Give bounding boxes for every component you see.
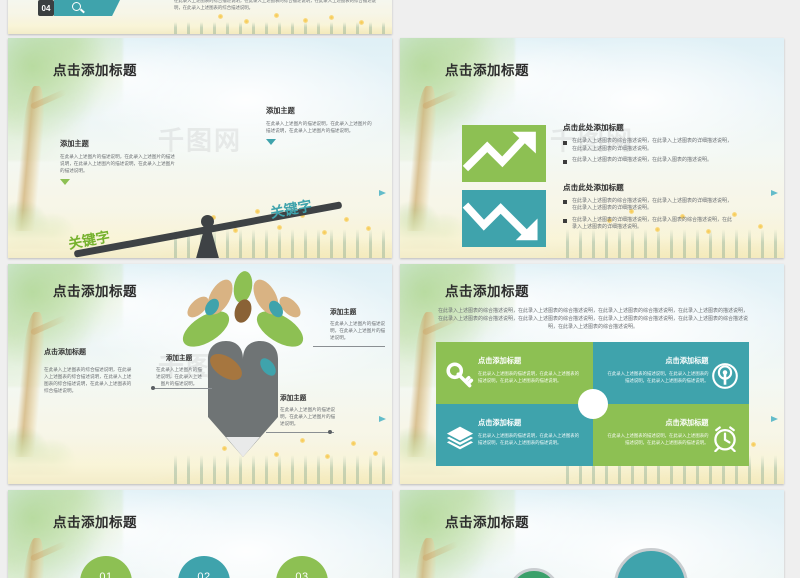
section-ribbon <box>54 0 120 16</box>
left-heading: 点击添加标题 <box>44 347 134 357</box>
quadrant-grid: 点击添加标题 在此录入上述图表的描述说明，在此录入上述图表的描述说明，在此录入上… <box>436 342 749 466</box>
arrow-down-trend-icon <box>462 190 546 247</box>
section-number-badge: 04 <box>38 0 54 16</box>
leader-line <box>266 432 334 433</box>
callout-heading: 添加主题 <box>60 139 178 149</box>
circle-number: 01 <box>99 571 112 578</box>
bullet-item: 在此录入上述图表的详细描述说明，在此录入图表的综合描述说明，在此录入上述图表的详… <box>563 217 735 232</box>
slide6-title: 点击添加标题 <box>53 511 137 531</box>
leader-dot <box>328 430 332 434</box>
slide1-body-text: 在此录入上述图表的综合描述说明，在此录入上述图表的综合描述说明，在此录入上述图表… <box>174 0 379 12</box>
slide-thumbnail-6[interactable]: 点击添加标题 01 关键字 02 关键字 03 关键字 <box>8 490 392 578</box>
slide4-note-2: 添加主题 在此录入上述图片的描述说明，在此录入上述图片的描述说明。 <box>330 306 386 341</box>
note-heading: 添加主题 <box>154 352 204 362</box>
note-heading: 添加主题 <box>280 392 336 402</box>
alarm-clock-icon <box>711 424 739 452</box>
slide7-title: 点击添加标题 <box>445 511 529 531</box>
bullet-square-icon <box>563 141 567 145</box>
slide5-intro-text: 在此录入上述图表的综合描述说明，在此录入上述图表的综合描述说明，在此录入上述图表… <box>438 307 748 331</box>
note-heading: 添加主题 <box>330 306 386 316</box>
left-body: 在此录入上述图表的综合描述说明，在此录入上述图表的综合描述说明，在此录入上述图表… <box>44 366 134 394</box>
callout-heading: 添加主题 <box>266 106 374 116</box>
bird-icon <box>379 190 386 196</box>
bird-icon <box>771 190 778 196</box>
quadrant-heading: 点击添加标题 <box>605 418 709 428</box>
bullet-square-icon <box>563 219 567 223</box>
slide3-title: 点击添加标题 <box>445 59 529 79</box>
bullet-square-icon <box>563 200 567 204</box>
slide-background <box>400 490 784 578</box>
triangle-marker-icon <box>60 179 70 185</box>
circle-number: 02 <box>197 571 210 578</box>
quadrant-body: 在此录入上述图表的描述说明，在此录入上述图表的描述说明，在此录入上述图表的描述说… <box>605 371 709 385</box>
slide-thumbnail-2[interactable]: 千图网 点击添加标题 添加主题 在此录入上述图片的描述说明，在此录入上述图片的描… <box>8 38 392 258</box>
slide-thumbnail-1[interactable]: 04 在此录入上述图表的综合描述说明，在此录入上述图表的综合描述说明，在此录入上… <box>8 0 392 34</box>
slide5-title: 点击添加标题 <box>445 280 529 300</box>
slide3-block-1: 点击此处添加标题 在此录入上述图表的综合描述说明，在此录入上述图表的详细描述说明… <box>563 122 735 165</box>
block-heading: 点击此处添加标题 <box>563 122 735 133</box>
slide4-note-3: 添加主题 在此录入上述图片的描述说明，在此录入上述图片的描述说明。 <box>280 392 336 427</box>
bullet-square-icon <box>563 160 567 164</box>
quadrant-text: 点击添加标题 在此录入上述图表的描述说明，在此录入上述图表的描述说明，在此录入上… <box>605 356 709 385</box>
quadrant-3[interactable]: 点击添加标题 在此录入上述图表的描述说明，在此录入上述图表的描述说明，在此录入上… <box>436 404 593 466</box>
template-preview-page: 04 在此录入上述图表的综合描述说明，在此录入上述图表的综合描述说明，在此录入上… <box>0 0 800 578</box>
slide4-left-text: 点击添加标题 在此录入上述图表的综合描述说明，在此录入上述图表的综合描述说明，在… <box>44 347 134 394</box>
bullet-item: 在此录入上述图表的详细描述说明，在此录入图表的描述说明。 <box>563 157 735 165</box>
slide-thumbnail-3[interactable]: 千图网 点击添加标题 点击此处添加标题 在此录入上述图表的综合描述说明，在此录入… <box>400 38 784 258</box>
bullet-item: 在此录入上述图表的综合描述说明，在此录入上述图表的详细描述说明，在此录入上述图表… <box>563 198 735 213</box>
signal-icon <box>711 362 739 390</box>
slide-thumbnail-5[interactable]: 千图网 点击添加标题 在此录入上述图表的综合描述说明，在此录入上述图表的综合描述… <box>400 264 784 484</box>
quadrant-text: 点击添加标题 在此录入上述图表的描述说明，在此录入上述图表的描述说明，在此录入上… <box>478 418 582 447</box>
note-body: 在此录入上述图片的描述说明，在此录入上述图片的描述说明。 <box>154 366 204 387</box>
callout-body: 在此录入上述图片的描述说明，在此录入上述图片的描述说明，在此录入上述图片的描述说… <box>266 120 374 134</box>
triangle-marker-icon <box>266 139 276 145</box>
quadrant-body: 在此录入上述图表的描述说明，在此录入上述图表的描述说明，在此录入上述图表的描述说… <box>605 433 709 447</box>
slide4-title: 点击添加标题 <box>53 280 137 300</box>
leader-line <box>313 346 385 347</box>
layers-icon <box>446 424 474 452</box>
callout-body: 在此录入上述图片的描述说明，在此录入上述图片的描述说明，在此录入上述图片的描述说… <box>60 153 178 174</box>
arrow-up-trend-icon <box>462 125 546 182</box>
slide2-left-callout: 添加主题 在此录入上述图片的描述说明，在此录入上述图片的描述说明，在此录入上述图… <box>60 139 178 185</box>
quadrant-heading: 点击添加标题 <box>478 356 582 366</box>
quadrant-heading: 点击添加标题 <box>605 356 709 366</box>
quadrant-2[interactable]: 点击添加标题 在此录入上述图表的描述说明，在此录入上述图表的描述说明，在此录入上… <box>593 342 750 404</box>
bullet-text: 在此录入上述图表的详细描述说明，在此录入图表的综合描述说明，在此录入上述图表的详… <box>572 217 735 232</box>
slide3-block-2: 点击此处添加标题 在此录入上述图表的综合描述说明，在此录入上述图表的详细描述说明… <box>563 182 735 232</box>
quadrant-heading: 点击添加标题 <box>478 418 582 428</box>
slide3-text-column: 点击此处添加标题 在此录入上述图表的综合描述说明，在此录入上述图表的详细描述说明… <box>563 122 735 245</box>
seesaw-pivot <box>201 215 214 228</box>
quadrant-text: 点击添加标题 在此录入上述图表的描述说明，在此录入上述图表的描述说明，在此录入上… <box>605 418 709 447</box>
leader-dot <box>151 386 155 390</box>
bullet-text: 在此录入上述图表的综合描述说明，在此录入上述图表的详细描述说明，在此录入上述图表… <box>572 198 735 213</box>
slide4-note-1: 添加主题 在此录入上述图片的描述说明，在此录入上述图片的描述说明。 <box>154 352 204 387</box>
note-body: 在此录入上述图片的描述说明，在此录入上述图片的描述说明。 <box>330 320 386 341</box>
block-heading: 点击此处添加标题 <box>563 182 735 193</box>
quadrant-1[interactable]: 点击添加标题 在此录入上述图表的描述说明，在此录入上述图表的描述说明，在此录入上… <box>436 342 593 404</box>
slide-thumbnail-7[interactable]: 点击添加标题 关键词 关键词 <box>400 490 784 578</box>
bullet-text: 在此录入上述图表的详细描述说明，在此录入图表的描述说明。 <box>572 157 712 165</box>
slide2-right-callout: 添加主题 在此录入上述图片的描述说明，在此录入上述图片的描述说明，在此录入上述图… <box>266 106 374 145</box>
quadrant-body: 在此录入上述图表的描述说明，在此录入上述图表的描述说明，在此录入上述图表的描述说… <box>478 433 582 447</box>
slide2-title: 点击添加标题 <box>53 59 137 79</box>
search-icon <box>72 2 81 11</box>
quadrant-body: 在此录入上述图表的描述说明，在此录入上述图表的描述说明，在此录入上述图表的描述说… <box>478 371 582 385</box>
leader-line <box>154 388 212 389</box>
quadrant-text: 点击添加标题 在此录入上述图表的描述说明，在此录入上述图表的描述说明，在此录入上… <box>478 356 582 385</box>
quadrant-4[interactable]: 点击添加标题 在此录入上述图表的描述说明，在此录入上述图表的描述说明，在此录入上… <box>593 404 750 466</box>
bird-icon <box>379 416 386 422</box>
center-circle <box>578 389 608 419</box>
circle-number: 03 <box>295 571 308 578</box>
bullet-text: 在此录入上述图表的综合描述说明，在此录入上述图表的详细描述说明，在此录入上述图表… <box>572 138 735 153</box>
slide-thumbnail-4[interactable]: 千图网 点击添加标题 点击添加标题 在此录入上述图表的综合描述说明，在此录入上述… <box>8 264 392 484</box>
dandelion-cluster <box>200 12 384 30</box>
bullet-item: 在此录入上述图表的综合描述说明，在此录入上述图表的详细描述说明，在此录入上述图表… <box>563 138 735 153</box>
note-body: 在此录入上述图片的描述说明，在此录入上述图片的描述说明。 <box>280 406 336 427</box>
key-icon <box>446 362 474 390</box>
bird-icon <box>771 416 778 422</box>
